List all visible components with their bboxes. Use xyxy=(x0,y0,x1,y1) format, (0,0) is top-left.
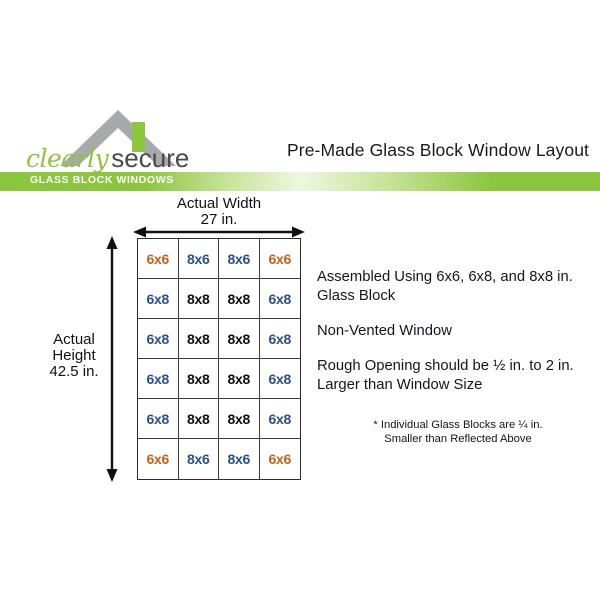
glass-block-cell: 8x8 xyxy=(219,399,260,439)
height-arrow-icon xyxy=(106,236,118,482)
height-label-line2: Height xyxy=(36,348,112,364)
glass-block-cell: 6x8 xyxy=(138,399,179,439)
height-label-line1: Actual xyxy=(36,332,112,348)
glass-block-grid: 6x68x68x66x66x88x88x86x86x88x88x86x86x88… xyxy=(137,238,301,480)
glass-block-cell: 8x6 xyxy=(179,439,220,479)
glass-block-cell: 8x6 xyxy=(219,239,260,279)
glass-block-cell: 8x8 xyxy=(179,359,220,399)
glass-block-cell: 6x6 xyxy=(260,239,301,279)
glass-block-cell: 8x8 xyxy=(179,399,220,439)
footnote: * Individual Glass Blocks are ¼ in. Smal… xyxy=(327,418,589,446)
glass-block-cell: 6x6 xyxy=(138,439,179,479)
width-dimension-label: Actual Width 27 in. xyxy=(137,196,301,228)
glass-block-cell: 6x8 xyxy=(260,359,301,399)
footnote-line2: Smaller than Reflected Above xyxy=(327,432,589,446)
height-dimension-label: Actual Height 42.5 in. xyxy=(36,332,112,380)
glass-block-cell: 6x8 xyxy=(260,279,301,319)
height-label-line3: 42.5 in. xyxy=(36,364,112,380)
page-title: Pre-Made Glass Block Window Layout xyxy=(287,140,589,161)
glass-block-cell: 6x6 xyxy=(138,239,179,279)
logo-word-clearly: clearly xyxy=(26,144,108,173)
glass-block-cell: 6x8 xyxy=(138,319,179,359)
width-label-line1: Actual Width xyxy=(177,195,261,212)
tagline-bar: GLASS BLOCK WINDOWS xyxy=(0,172,600,191)
note-item: Assembled Using 6x6, 6x8, and 8x8 in. Gl… xyxy=(317,268,592,306)
glass-block-cell: 8x8 xyxy=(179,279,220,319)
glass-block-cell: 6x8 xyxy=(260,319,301,359)
notes-list: Assembled Using 6x6, 6x8, and 8x8 in. Gl… xyxy=(317,268,592,411)
width-arrow-icon xyxy=(133,226,305,238)
note-item: Non-Vented Window xyxy=(317,322,592,341)
glass-block-cell: 8x8 xyxy=(219,359,260,399)
layout-diagram-page: clearlysecure GLASS BLOCK WINDOWS Pre-Ma… xyxy=(0,0,600,600)
glass-block-cell: 8x8 xyxy=(219,279,260,319)
logo-word-secure: secure xyxy=(111,143,189,173)
note-item: Rough Opening should be ½ in. to 2 in. L… xyxy=(317,357,592,395)
logo-wordmark: clearlysecure xyxy=(26,143,202,173)
glass-block-cell: 8x8 xyxy=(179,319,220,359)
glass-block-cell: 6x8 xyxy=(138,279,179,319)
glass-block-cell: 6x8 xyxy=(138,359,179,399)
glass-block-cell: 8x6 xyxy=(179,239,220,279)
glass-block-cell: 6x6 xyxy=(260,439,301,479)
glass-block-cell: 6x8 xyxy=(260,399,301,439)
footnote-line1: * Individual Glass Blocks are ¼ in. xyxy=(373,419,542,431)
glass-block-cell: 8x6 xyxy=(219,439,260,479)
tagline-text: GLASS BLOCK WINDOWS xyxy=(30,174,174,186)
glass-block-cell: 8x8 xyxy=(219,319,260,359)
